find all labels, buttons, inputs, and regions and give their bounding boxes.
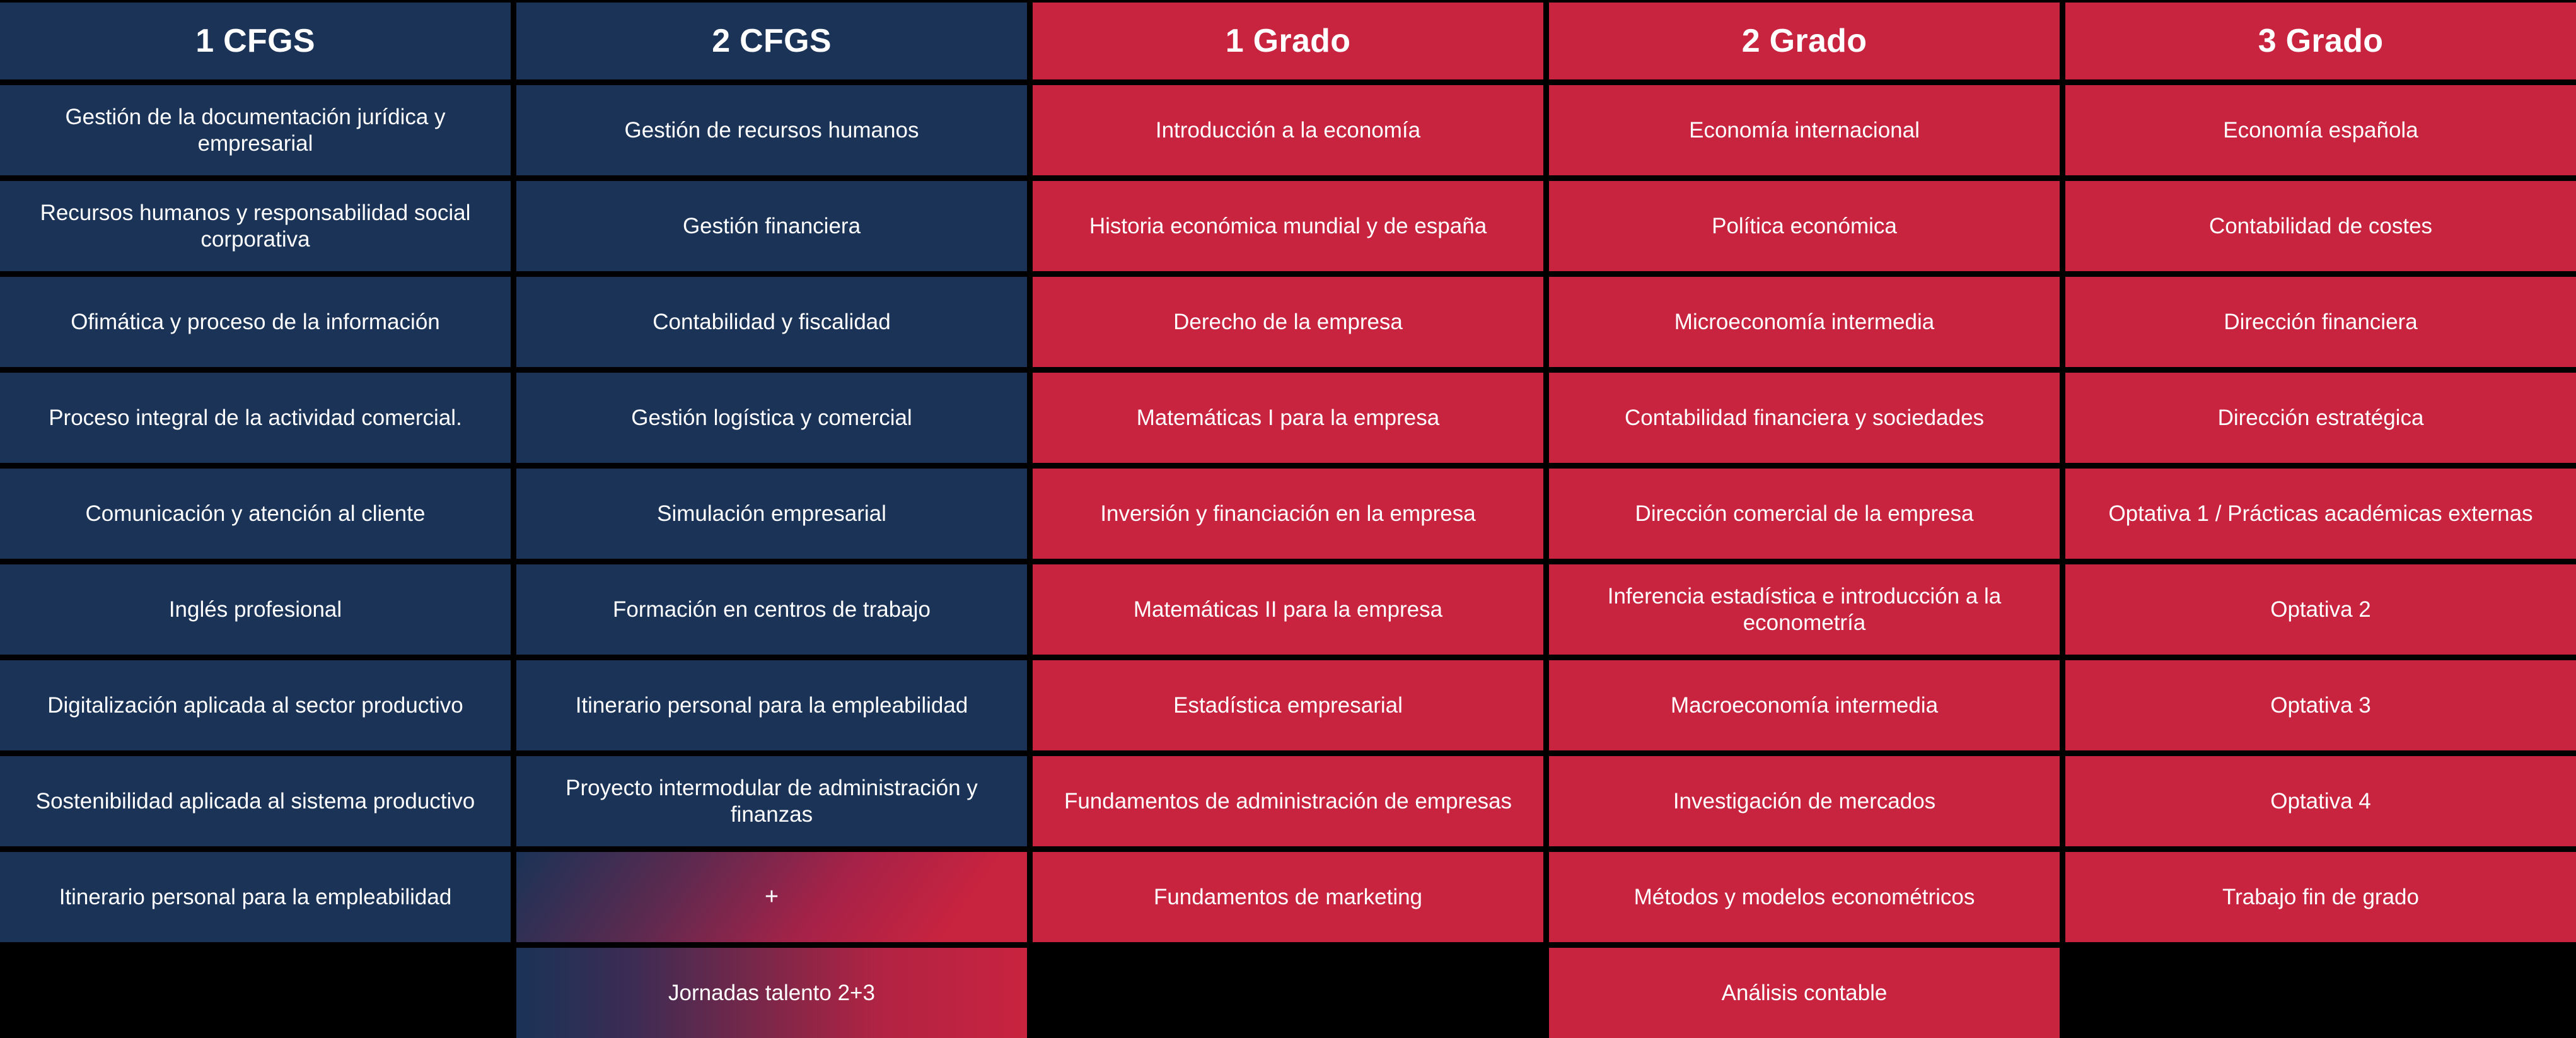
course-label: Fundamentos de administración de empresa… [1064, 788, 1512, 815]
course-label: Optativa 4 [2270, 788, 2371, 815]
empty-cell [0, 948, 511, 1038]
column-header-2-cfgs: 2 CFGS [516, 3, 1027, 79]
course-cell: Gestión logística y comercial [516, 373, 1027, 463]
column-header-label: 1 Grado [1226, 21, 1351, 61]
course-label: Gestión de recursos humanos [625, 117, 919, 144]
course-cell: Introducción a la economía [1033, 85, 1543, 175]
course-cell: Optativa 4 [2065, 756, 2576, 846]
course-label: Fundamentos de marketing [1154, 884, 1422, 911]
empty-cell [2065, 948, 2576, 1038]
column-header-label: 1 CFGS [195, 21, 315, 61]
course-label: Sostenibilidad aplicada al sistema produ… [36, 788, 475, 815]
course-cell: Contabilidad y fiscalidad [516, 277, 1027, 367]
course-label: Análisis contable [1722, 980, 1888, 1006]
course-label: Proceso integral de la actividad comerci… [49, 405, 462, 431]
column-header-2-grado: 2 Grado [1549, 3, 2060, 79]
course-cell: Inglés profesional [0, 564, 511, 655]
column-header-1-grado: 1 Grado [1033, 3, 1543, 79]
course-cell: Optativa 1 / Prácticas académicas extern… [2065, 469, 2576, 559]
course-label: Trabajo fin de grado [2222, 884, 2419, 911]
course-label: Historia económica mundial y de españa [1089, 213, 1487, 240]
course-cell: Proyecto intermodular de administración … [516, 756, 1027, 846]
course-cell: Economía internacional [1549, 85, 2060, 175]
course-label: Itinerario personal para la empleabilida… [59, 884, 452, 911]
course-cell: Dirección estratégica [2065, 373, 2576, 463]
column-header-label: 3 Grado [2258, 21, 2384, 61]
course-cell: Contabilidad de costes [2065, 181, 2576, 271]
course-label: Dirección comercial de la empresa [1635, 501, 1974, 527]
course-cell: Inferencia estadística e introducción a … [1549, 564, 2060, 655]
column-header-label: 2 Grado [1742, 21, 1867, 61]
course-cell: Itinerario personal para la empleabilida… [0, 852, 511, 942]
course-cell: Métodos y modelos econométricos [1549, 852, 2060, 942]
course-cell: Gestión de la documentación jurídica y e… [0, 85, 511, 175]
course-label: Economía española [2223, 117, 2418, 144]
course-cell: Matemáticas II para la empresa [1033, 564, 1543, 655]
course-label: Dirección estratégica [2218, 405, 2424, 431]
course-label: Optativa 3 [2270, 692, 2371, 719]
course-cell: Trabajo fin de grado [2065, 852, 2576, 942]
course-label: Optativa 2 [2270, 597, 2371, 623]
course-cell: Dirección financiera [2065, 277, 2576, 367]
course-label: Inversión y financiación en la empresa [1100, 501, 1475, 527]
course-cell: Matemáticas I para la empresa [1033, 373, 1543, 463]
course-cell: Dirección comercial de la empresa [1549, 469, 2060, 559]
course-cell: Macroeconomía intermedia [1549, 660, 2060, 750]
column-header-1-cfgs: 1 CFGS [0, 3, 511, 79]
course-cell: Investigación de mercados [1549, 756, 2060, 846]
bridge-plus-cell: + [516, 852, 1027, 942]
course-label: Gestión logística y comercial [631, 405, 912, 431]
course-label: Proyecto intermodular de administración … [525, 775, 1018, 828]
empty-cell [1033, 948, 1543, 1038]
course-label: Estadística empresarial [1173, 692, 1403, 719]
course-cell: Estadística empresarial [1033, 660, 1543, 750]
course-cell: Recursos humanos y responsabilidad socia… [0, 181, 511, 271]
course-cell: Política económica [1549, 181, 2060, 271]
course-label: Digitalización aplicada al sector produc… [47, 692, 463, 719]
course-label: Métodos y modelos econométricos [1634, 884, 1975, 911]
course-label: Inferencia estadística e introducción a … [1558, 583, 2051, 636]
course-cell: Optativa 2 [2065, 564, 2576, 655]
column-header-3-grado: 3 Grado [2065, 3, 2576, 79]
course-cell: Gestión de recursos humanos [516, 85, 1027, 175]
course-label: Introducción a la economía [1156, 117, 1420, 144]
course-cell: Microeconomía intermedia [1549, 277, 2060, 367]
course-label: Contabilidad financiera y sociedades [1625, 405, 1984, 431]
column-header-label: 2 CFGS [712, 21, 832, 61]
course-label: Formación en centros de trabajo [613, 597, 931, 623]
jornadas-talento-cell: Jornadas talento 2+3 [516, 948, 1027, 1038]
course-cell: Análisis contable [1549, 948, 2060, 1038]
curriculum-table: 1 CFGS 2 CFGS 1 Grado 2 Grado 3 Grado Ge… [0, 0, 2576, 1027]
course-cell: Ofimática y proceso de la información [0, 277, 511, 367]
course-label: Economía internacional [1689, 117, 1920, 144]
jornadas-label: Jornadas talento 2+3 [668, 980, 875, 1006]
course-cell: Fundamentos de marketing [1033, 852, 1543, 942]
course-cell: Digitalización aplicada al sector produc… [0, 660, 511, 750]
course-label: Contabilidad de costes [2209, 213, 2432, 240]
course-label: Comunicación y atención al cliente [86, 501, 426, 527]
course-cell: Historia económica mundial y de españa [1033, 181, 1543, 271]
course-cell: Optativa 3 [2065, 660, 2576, 750]
course-cell: Inversión y financiación en la empresa [1033, 469, 1543, 559]
course-cell: Fundamentos de administración de empresa… [1033, 756, 1543, 846]
course-cell: Comunicación y atención al cliente [0, 469, 511, 559]
course-cell: Contabilidad financiera y sociedades [1549, 373, 2060, 463]
course-cell: Simulación empresarial [516, 469, 1027, 559]
course-label: Investigación de mercados [1673, 788, 1935, 815]
course-label: Contabilidad y fiscalidad [653, 309, 890, 335]
course-label: Optativa 1 / Prácticas académicas extern… [2108, 501, 2532, 527]
course-cell: Sostenibilidad aplicada al sistema produ… [0, 756, 511, 846]
course-cell: Proceso integral de la actividad comerci… [0, 373, 511, 463]
course-cell: Economía española [2065, 85, 2576, 175]
course-label: Matemáticas I para la empresa [1137, 405, 1439, 431]
course-label: Política económica [1712, 213, 1897, 240]
course-label: Inglés profesional [169, 597, 342, 623]
plus-label: + [765, 883, 779, 912]
course-label: Microeconomía intermedia [1674, 309, 1934, 335]
course-cell: Gestión financiera [516, 181, 1027, 271]
course-cell: Derecho de la empresa [1033, 277, 1543, 367]
course-label: Matemáticas II para la empresa [1134, 597, 1442, 623]
course-cell: Itinerario personal para la empleabilida… [516, 660, 1027, 750]
course-cell: Formación en centros de trabajo [516, 564, 1027, 655]
course-label: Dirección financiera [2224, 309, 2417, 335]
course-label: Gestión de la documentación jurídica y e… [9, 104, 502, 157]
course-label: Gestión financiera [683, 213, 861, 240]
course-label: Simulación empresarial [657, 501, 886, 527]
course-label: Itinerario personal para la empleabilida… [576, 692, 968, 719]
course-label: Recursos humanos y responsabilidad socia… [9, 200, 502, 253]
course-label: Macroeconomía intermedia [1671, 692, 1938, 719]
course-label: Derecho de la empresa [1173, 309, 1403, 335]
course-label: Ofimática y proceso de la información [71, 309, 440, 335]
